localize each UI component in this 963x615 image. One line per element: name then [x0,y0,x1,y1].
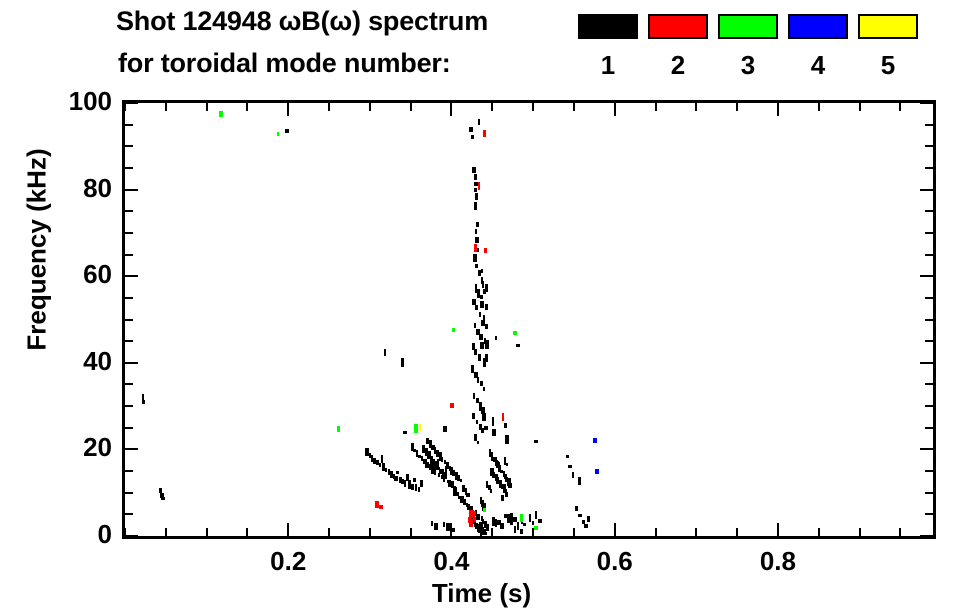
data-mark-mode-1 [505,492,508,497]
legend-label-3: 3 [718,50,778,81]
data-mark-mode-4 [595,469,599,474]
legend-swatch-5 [858,14,918,39]
x-tick-label-0.2: 0.2 [248,546,328,577]
data-mark-mode-1 [443,522,445,527]
data-mark-mode-1 [523,523,526,526]
data-mark-mode-1 [481,269,483,273]
data-mark-mode-1 [534,440,538,443]
legend-label-2: 2 [648,50,708,81]
data-mark-mode-1 [578,477,581,485]
data-mark-mode-1 [572,472,574,478]
data-mark-mode-1 [483,387,485,391]
data-mark-mode-1 [485,304,488,310]
data-mark-mode-1 [566,455,569,458]
data-points-layer [125,103,933,536]
x-tick-label-0.8: 0.8 [738,546,818,577]
data-mark-mode-2 [469,519,473,527]
legend-swatch-3 [718,14,778,39]
data-mark-mode-1 [475,305,478,310]
data-mark-mode-1 [501,495,504,501]
axis-right [933,100,936,539]
y-tick-label-100: 100 [48,86,112,117]
data-mark-mode-1 [482,413,486,421]
data-mark-mode-1 [482,281,484,288]
data-mark-mode-1 [434,523,438,530]
data-mark-mode-1 [517,522,519,530]
data-mark-mode-2 [483,130,486,137]
data-mark-mode-2 [450,403,454,408]
data-mark-mode-1 [490,489,492,493]
data-mark-mode-1 [396,471,399,474]
data-mark-mode-1 [587,516,590,522]
data-mark-mode-1 [474,323,476,328]
data-mark-mode-3 [414,424,418,433]
data-mark-mode-1 [484,426,488,430]
data-mark-mode-1 [480,381,483,386]
data-mark-mode-1 [508,483,512,488]
legend-swatch-4 [788,14,848,39]
data-mark-mode-1 [384,349,386,356]
legend-swatch-1 [578,14,638,39]
data-mark-mode-1 [474,174,477,180]
data-mark-mode-1 [475,193,478,200]
data-mark-mode-1 [492,417,494,426]
data-mark-mode-1 [413,478,416,482]
data-mark-mode-1 [575,506,578,511]
data-mark-mode-1 [578,514,582,517]
data-mark-mode-3 [277,132,279,136]
legend-label-1: 1 [578,50,638,81]
data-mark-mode-1 [426,452,429,455]
x-tick-label-0.6: 0.6 [575,546,655,577]
data-mark-mode-1 [505,435,509,444]
data-mark-mode-1 [485,354,488,362]
data-mark-mode-1 [381,455,383,463]
data-mark-mode-1 [472,299,476,305]
data-mark-mode-3 [337,426,340,432]
data-mark-mode-1 [431,521,433,526]
data-mark-mode-1 [476,514,480,520]
data-mark-mode-5 [419,424,421,431]
data-mark-mode-1 [475,229,477,234]
data-mark-mode-2 [502,413,504,421]
data-mark-mode-1 [477,441,479,444]
data-mark-mode-2 [474,244,477,252]
data-mark-mode-3 [219,111,223,117]
data-mark-mode-1 [471,135,474,139]
data-mark-mode-1 [480,295,483,299]
data-mark-mode-1 [485,340,489,349]
data-mark-mode-1 [480,301,484,308]
data-mark-mode-1 [506,463,508,466]
data-mark-mode-1 [446,523,450,531]
data-mark-mode-3 [520,514,523,522]
x-tick-label-0.4: 0.4 [411,546,491,577]
data-mark-mode-4 [593,438,597,443]
data-mark-mode-1 [444,472,447,479]
data-mark-mode-1 [401,358,404,367]
data-mark-mode-1 [532,521,534,525]
legend-label-4: 4 [788,50,848,81]
data-mark-mode-1 [142,400,145,404]
y-tick-label-20: 20 [48,432,112,463]
data-mark-mode-1 [568,465,572,468]
y-tick-label-80: 80 [48,173,112,204]
legend-swatch-2 [648,14,708,39]
data-mark-mode-3 [513,331,517,335]
data-mark-mode-3 [534,526,538,530]
data-mark-mode-1 [492,429,496,436]
data-mark-mode-1 [535,511,537,519]
data-mark-mode-1 [161,497,165,500]
data-mark-mode-1 [466,493,470,497]
legend: 12345 [0,0,963,92]
data-mark-mode-1 [485,284,488,292]
data-mark-mode-1 [476,420,478,424]
data-mark-mode-1 [403,431,407,434]
x-axis-title: Time (s) [0,578,963,609]
data-mark-mode-1 [516,344,520,347]
data-mark-mode-1 [473,393,475,399]
data-mark-mode-1 [472,167,476,173]
data-mark-mode-1 [485,324,488,329]
legend-label-5: 5 [858,50,918,81]
data-mark-mode-1 [394,476,398,481]
y-tick-label-0: 0 [48,519,112,550]
data-mark-mode-1 [504,423,507,428]
data-mark-mode-1 [379,463,381,467]
data-mark-mode-1 [473,254,477,262]
data-mark-mode-1 [510,521,513,525]
data-mark-mode-1 [478,354,481,361]
data-mark-mode-1 [486,524,489,531]
y-axis-title: Frequency (kHz) [22,125,53,375]
axis-bottom [122,536,936,539]
data-mark-mode-1 [479,312,481,317]
data-mark-mode-1 [411,484,414,490]
data-mark-mode-1 [469,127,473,132]
y-tick-label-40: 40 [48,346,112,377]
data-mark-mode-2 [484,248,487,253]
data-mark-mode-1 [520,529,523,534]
data-mark-mode-1 [460,479,462,482]
data-mark-mode-1 [538,519,542,523]
data-mark-mode-1 [529,514,531,522]
data-mark-mode-1 [500,523,504,529]
data-mark-mode-1 [479,334,483,340]
y-tick-label-60: 60 [48,259,112,290]
data-mark-mode-1 [478,119,480,125]
data-mark-mode-1 [483,532,487,535]
data-mark-mode-1 [285,129,289,133]
data-mark-mode-1 [418,487,420,492]
data-mark-mode-1 [495,336,497,340]
data-mark-mode-1 [476,222,479,227]
data-mark-mode-1 [472,413,475,419]
data-mark-mode-3 [452,328,455,332]
data-mark-mode-2 [478,182,480,190]
data-mark-mode-1 [474,202,477,210]
data-mark-mode-1 [452,528,455,532]
data-mark-mode-1 [475,264,478,268]
data-mark-mode-3 [483,508,486,512]
data-mark-mode-1 [584,524,588,528]
data-mark-mode-1 [477,248,479,252]
data-mark-mode-1 [474,434,477,441]
data-mark-mode-1 [420,480,423,487]
data-mark-mode-1 [514,526,516,533]
data-mark-mode-2 [379,505,383,509]
data-mark-mode-1 [474,188,477,192]
data-mark-mode-1 [475,237,479,243]
data-mark-mode-2 [474,517,476,522]
data-mark-mode-1 [443,426,447,432]
data-mark-mode-1 [477,377,479,383]
